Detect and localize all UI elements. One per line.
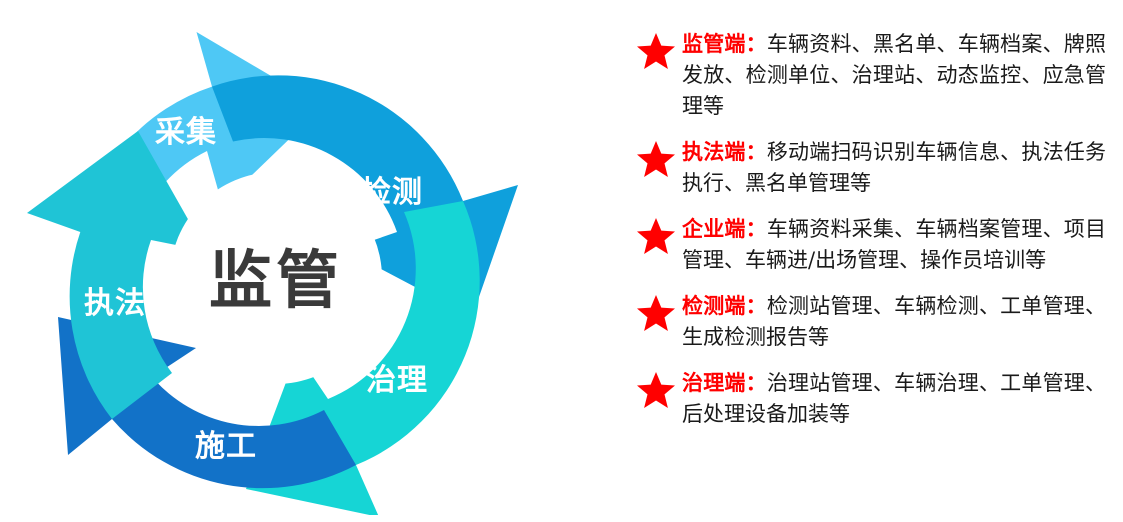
list-item[interactable]: 检测端：检测站管理、车辆检测、工单管理、生成检测报告等 — [636, 290, 1106, 353]
star-icon — [636, 217, 682, 255]
list-item-title: 企业端： — [682, 216, 767, 241]
star-icon — [636, 371, 682, 409]
list-item-text: 监管端：车辆资料、黑名单、车辆档案、牌照发放、检测单位、治理站、动态监控、应急管… — [682, 28, 1106, 122]
list-item-title: 监管端： — [682, 31, 767, 56]
list-item[interactable]: 监管端：车辆资料、黑名单、车辆档案、牌照发放、检测单位、治理站、动态监控、应急管… — [636, 28, 1106, 122]
info-panel: 监管端：车辆资料、黑名单、车辆档案、牌照发放、检测单位、治理站、动态监控、应急管… — [636, 28, 1106, 508]
list-item[interactable]: 企业端：车辆资料采集、车辆档案管理、项目管理、车辆进/出场管理、操作员培训等 — [636, 213, 1106, 276]
cycle-center-label: 监管 — [209, 246, 343, 316]
cycle-diagram: 采集 检测 治理 施工 执法 监 — [26, 10, 526, 515]
star-icon — [636, 294, 682, 332]
cycle-segment-jiance-label: 检测 — [361, 175, 423, 209]
list-item-text: 执法端：移动端扫码识别车辆信息、执法任务执行、黑名单管理等 — [682, 136, 1106, 199]
list-item-text: 检测端：检测站管理、车辆检测、工单管理、生成检测报告等 — [682, 290, 1106, 353]
cycle-segment-caiji-label: 采集 — [155, 116, 217, 149]
list-item-title: 检测端： — [682, 293, 767, 318]
star-icon — [636, 32, 682, 70]
cycle-segment-zhili-label: 治理 — [366, 364, 428, 397]
list-item-text: 治理端：治理站管理、车辆治理、工单管理、后处理设备加装等 — [682, 367, 1106, 430]
list-item-title: 治理端： — [682, 370, 767, 395]
list-item[interactable]: 治理端：治理站管理、车辆治理、工单管理、后处理设备加装等 — [636, 367, 1106, 430]
list-item-text: 企业端：车辆资料采集、车辆档案管理、项目管理、车辆进/出场管理、操作员培训等 — [682, 213, 1106, 276]
list-item-title: 执法端： — [682, 139, 767, 164]
cycle-segment-shigong-label: 施工 — [195, 430, 257, 463]
cycle-segment-zhifa-label: 执法 — [84, 287, 146, 320]
star-icon — [636, 140, 682, 178]
list-item[interactable]: 执法端：移动端扫码识别车辆信息、执法任务执行、黑名单管理等 — [636, 136, 1106, 199]
page-root: 采集 检测 治理 施工 执法 监 — [0, 0, 1123, 522]
